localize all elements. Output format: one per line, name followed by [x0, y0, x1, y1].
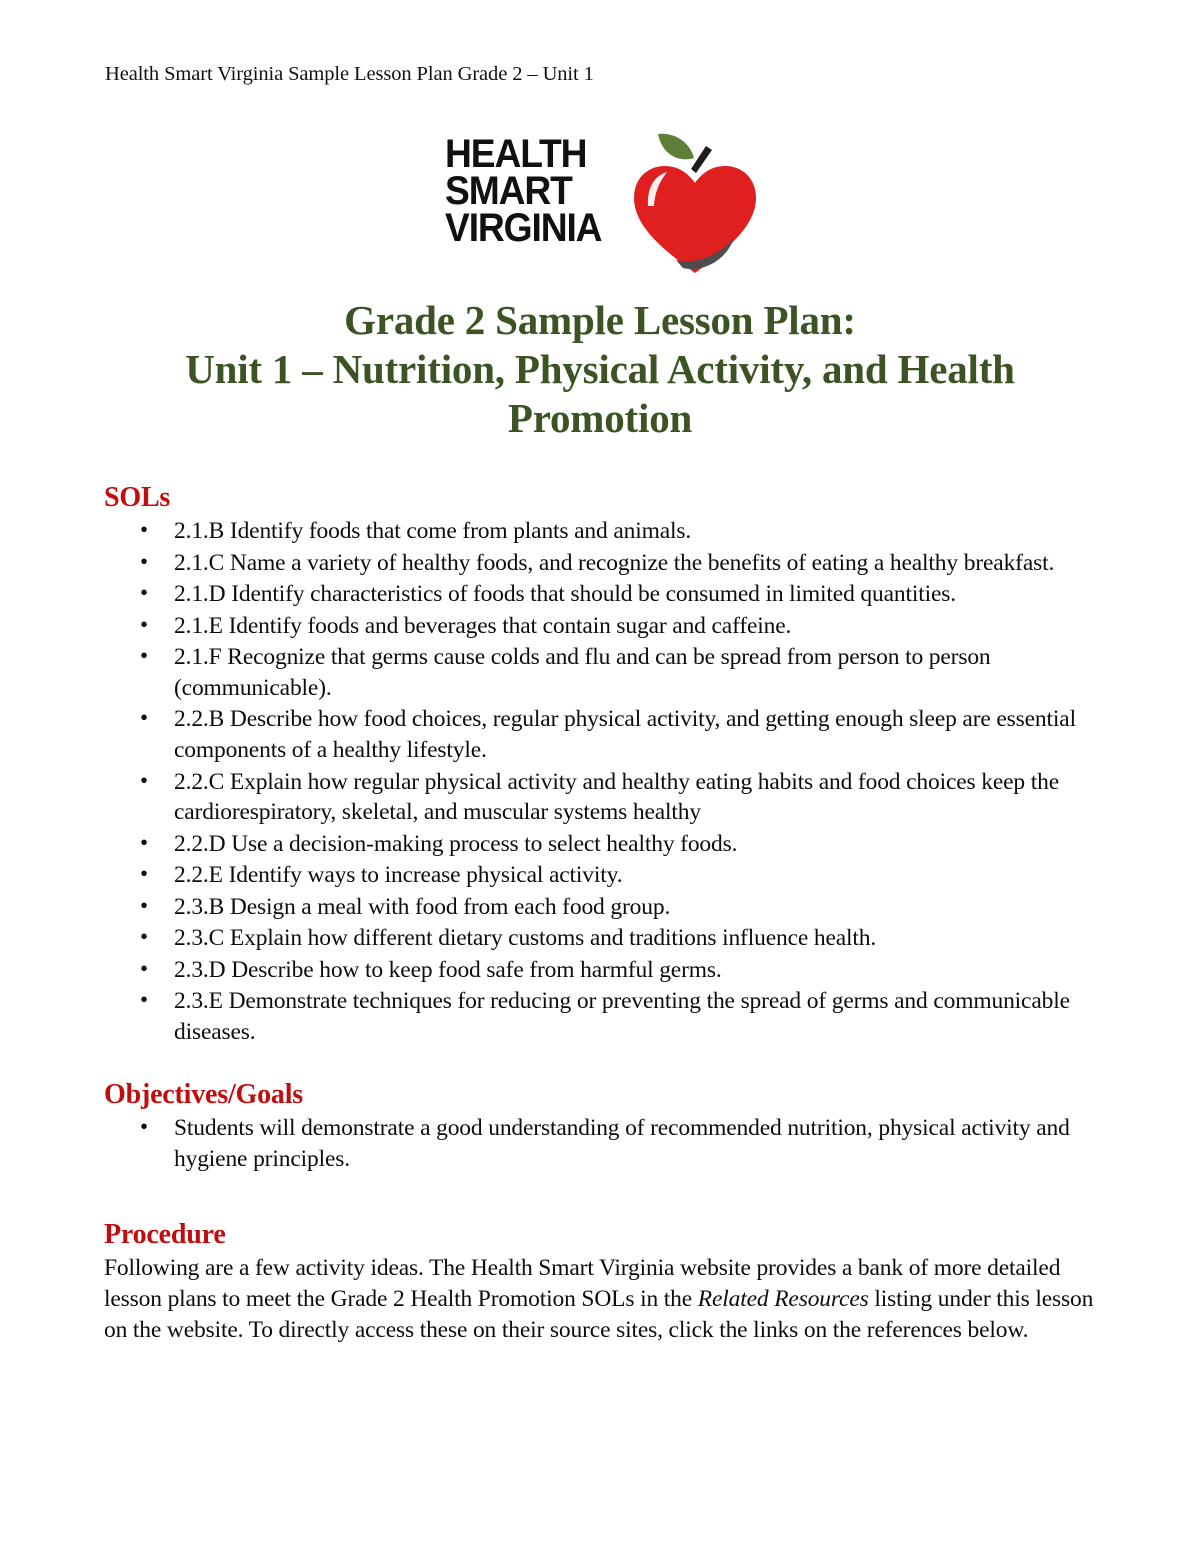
list-item: 2.1.E Identify foods and beverages that …	[104, 611, 1096, 642]
page-title: Grade 2 Sample Lesson Plan: Unit 1 – Nut…	[100, 296, 1100, 442]
health-smart-virginia-logo: HEALTH SMART VIRGINIA	[445, 128, 765, 278]
objectives-list: Students will demonstrate a good underst…	[104, 1113, 1096, 1174]
logo-line-health: HEALTH	[445, 136, 601, 173]
running-header: Health Smart Virginia Sample Lesson Plan…	[105, 62, 594, 88]
section-sols: SOLs 2.1.B Identify foods that come from…	[104, 482, 1096, 1048]
logo-line-virginia: VIRGINIA	[445, 210, 601, 247]
title-line-3: Promotion	[100, 394, 1100, 443]
list-item: 2.1.D Identify characteristics of foods …	[104, 579, 1096, 610]
document-page: Health Smart Virginia Sample Lesson Plan…	[0, 0, 1200, 1553]
section-objectives: Objectives/Goals Students will demonstra…	[104, 1079, 1096, 1175]
section-heading-procedure: Procedure	[104, 1219, 1096, 1251]
list-item: 2.1.B Identify foods that come from plan…	[104, 516, 1096, 547]
procedure-paragraph: Following are a few activity ideas. The …	[104, 1253, 1096, 1346]
logo-wordmark: HEALTH SMART VIRGINIA	[445, 136, 601, 248]
list-item: 2.3.B Design a meal with food from each …	[104, 892, 1096, 923]
list-item: 2.1.C Name a variety of healthy foods, a…	[104, 548, 1096, 579]
list-item: Students will demonstrate a good underst…	[104, 1113, 1096, 1174]
section-heading-sols: SOLs	[104, 482, 1096, 514]
list-item: 2.2.D Use a decision-making process to s…	[104, 829, 1096, 860]
list-item: 2.3.C Explain how different dietary cust…	[104, 923, 1096, 954]
title-line-2: Unit 1 – Nutrition, Physical Activity, a…	[100, 345, 1100, 394]
sols-list: 2.1.B Identify foods that come from plan…	[104, 516, 1096, 1047]
procedure-related-resources-emphasis: Related Resources	[698, 1286, 869, 1312]
logo-line-smart: SMART	[445, 173, 601, 210]
list-item: 2.3.E Demonstrate techniques for reducin…	[104, 986, 1096, 1047]
section-procedure: Procedure Following are a few activity i…	[104, 1219, 1096, 1346]
list-item: 2.1.F Recognize that germs cause colds a…	[104, 642, 1096, 703]
list-item: 2.2.E Identify ways to increase physical…	[104, 860, 1096, 891]
title-line-1: Grade 2 Sample Lesson Plan:	[100, 296, 1100, 345]
apple-heart-icon	[628, 128, 763, 278]
list-item: 2.2.C Explain how regular physical activ…	[104, 767, 1096, 828]
section-heading-objectives: Objectives/Goals	[104, 1079, 1096, 1111]
list-item: 2.3.D Describe how to keep food safe fro…	[104, 955, 1096, 986]
list-item: 2.2.B Describe how food choices, regular…	[104, 704, 1096, 765]
